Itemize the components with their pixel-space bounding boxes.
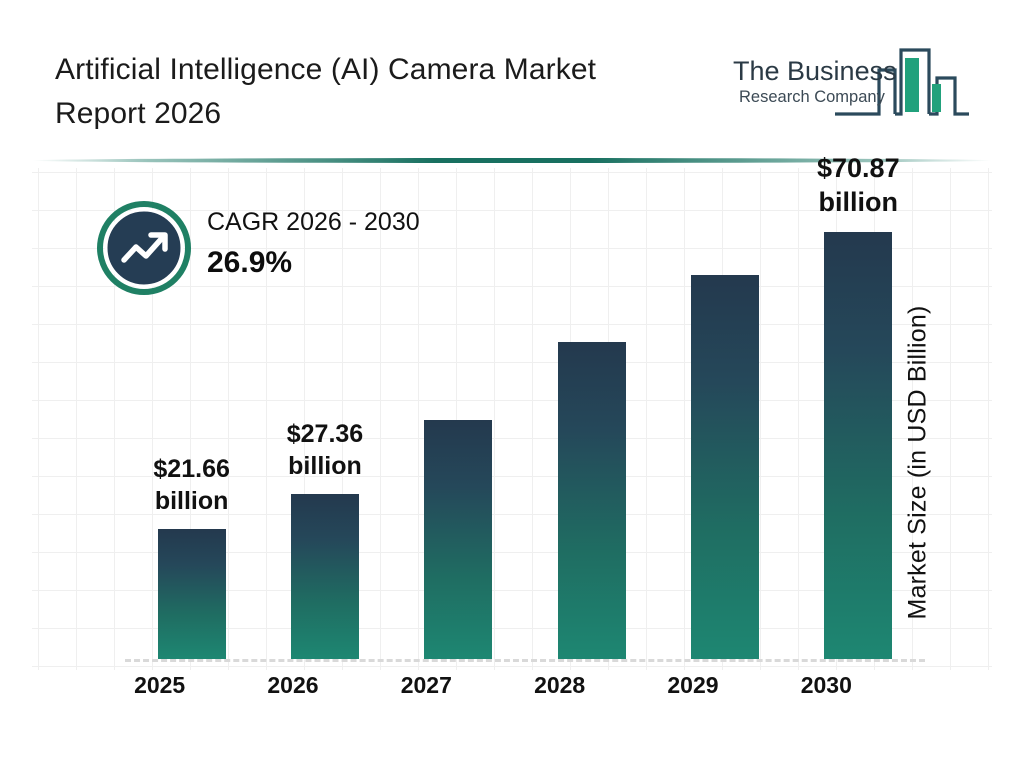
page-title: Artificial Intelligence (AI) Camera Mark… [55,48,675,135]
bar-2030[interactable] [824,232,892,659]
logo-text-line2: Research Company [739,88,886,106]
x-tick-2025: 2025 [93,672,226,699]
bar-2026[interactable] [291,494,359,659]
x-tick-2029: 2029 [626,672,759,699]
bar-2027[interactable] [424,420,492,659]
bar-value-label-2025: $21.66billion [117,453,267,517]
cagr-circle [97,201,191,295]
bar-value-amount: $70.87 [783,151,933,186]
logo-text-line1: The Business [733,56,897,86]
logo-bar-green-short [932,84,941,112]
company-logo: The Business Research Company [729,32,969,122]
bar-value-amount: $21.66 [117,453,267,485]
bar-2028[interactable] [558,342,626,659]
report-page: Artificial Intelligence (AI) Camera Mark… [0,0,1024,768]
bar-slot [658,189,791,659]
y-axis-title-text: Market Size (in USD Billion) [904,305,933,619]
bar-slot [525,189,658,659]
x-tick-2028: 2028 [493,672,626,699]
x-tick-2026: 2026 [226,672,359,699]
x-tick-2030: 2030 [760,672,893,699]
header: Artificial Intelligence (AI) Camera Mark… [0,0,1024,150]
bar-value-label-2030: $70.87billion [783,151,933,220]
bar-value-unit: billion [783,185,933,220]
bar-value-amount: $27.36 [250,418,400,450]
cagr-text-block: CAGR 2026 - 2030 26.9% [207,209,420,280]
cagr-value: 26.9% [207,246,420,280]
bar-value-unit: billion [250,450,400,482]
x-tick-2027: 2027 [360,672,493,699]
cagr-period-label: CAGR 2026 - 2030 [207,209,420,237]
cagr-badge: CAGR 2026 - 2030 26.9% [97,201,517,301]
cagr-ring-inner [106,210,182,286]
logo-bar-green-tall [905,58,919,112]
bar-value-unit: billion [117,485,267,517]
bar-value-label-2026: $27.36billion [250,418,400,482]
bar-2025[interactable] [158,529,226,660]
x-axis-tick-labels: 202520262027202820292030 [93,672,893,712]
bar-2029[interactable] [691,275,759,659]
x-axis-baseline [125,659,925,662]
y-axis-title: Market Size (in USD Billion) [898,262,938,662]
